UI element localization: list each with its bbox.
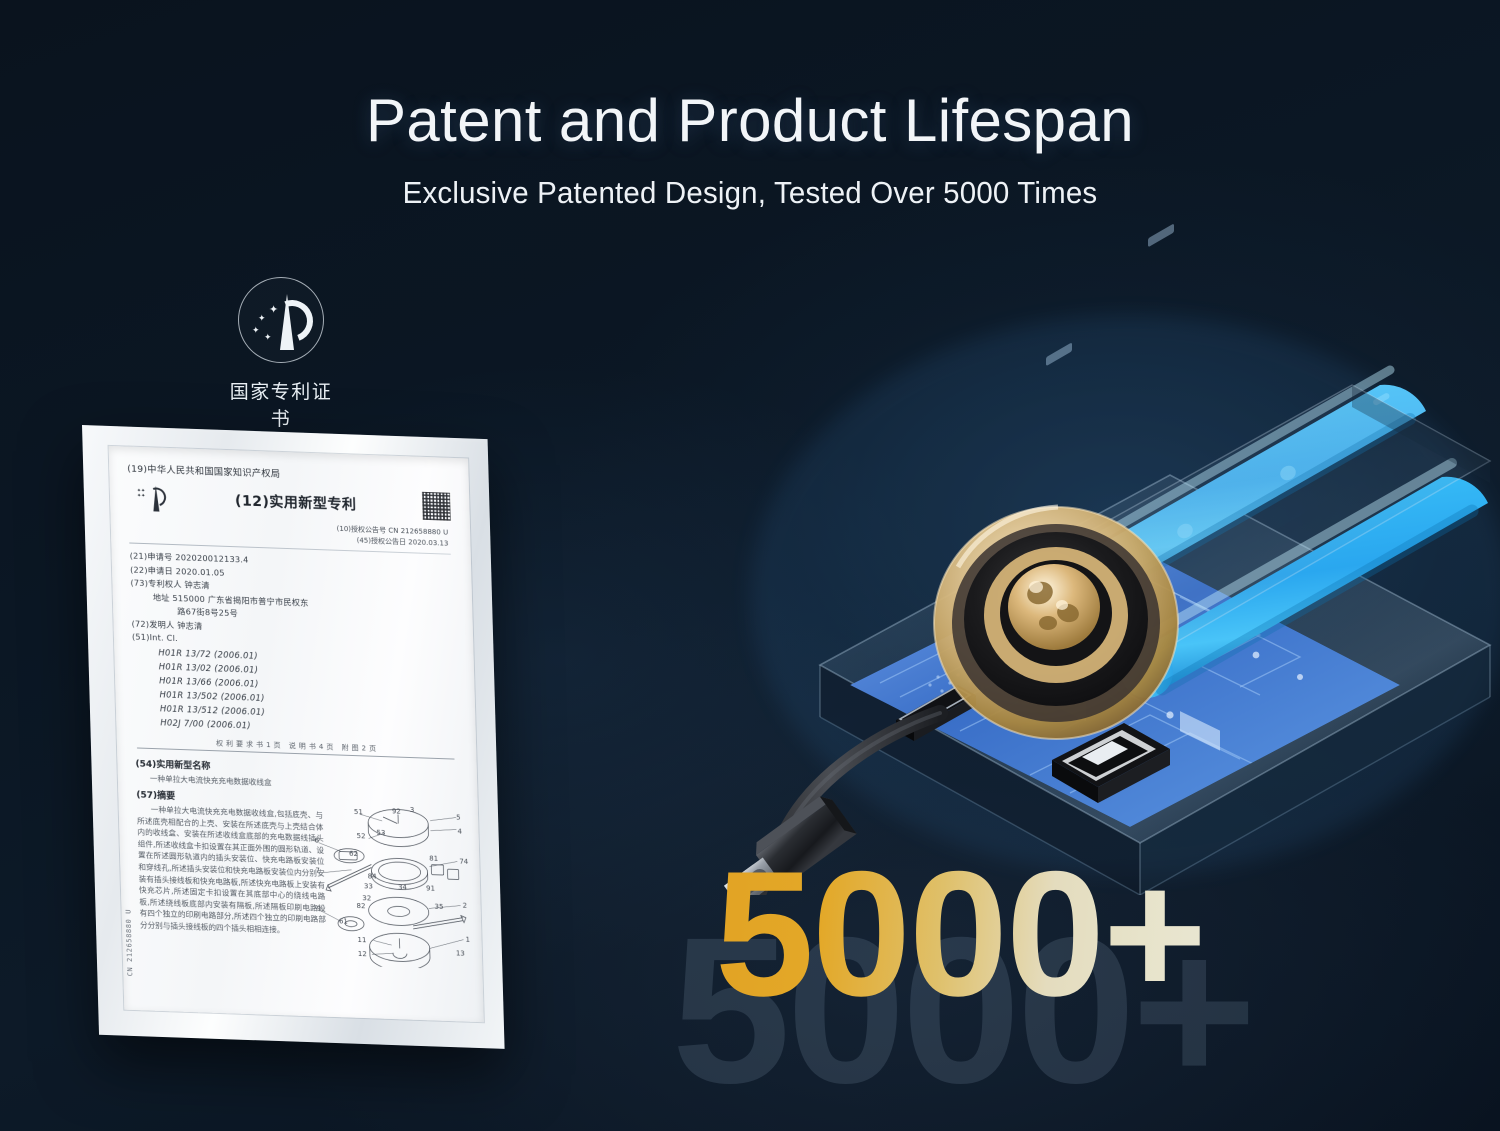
svg-text:35: 35 xyxy=(434,903,443,911)
cert-section-name-value: 一种单拉大电流快充充电数据收线盒 xyxy=(136,772,323,790)
svg-text:7: 7 xyxy=(315,867,320,875)
svg-text:13: 13 xyxy=(456,949,465,957)
svg-text:33: 33 xyxy=(364,882,373,890)
cert-abstract-text: 一种单拉大电流快充充电数据收线盒,包括底壳、与所述底壳相配合的上壳、安装在所述底… xyxy=(137,803,327,937)
svg-text:82: 82 xyxy=(356,902,365,910)
svg-text:34: 34 xyxy=(398,883,408,891)
svg-text:5: 5 xyxy=(456,814,461,822)
svg-text:9: 9 xyxy=(316,905,321,913)
svg-text:51: 51 xyxy=(354,808,363,816)
svg-text:61: 61 xyxy=(339,917,348,925)
qr-code-icon xyxy=(421,491,452,522)
patent-certificate-badge: ✦ ✦ ✦ ✦ 国家专利证书 xyxy=(221,277,341,431)
page-title: Patent and Product Lifespan xyxy=(0,86,1500,155)
svg-text:62: 62 xyxy=(349,850,358,858)
svg-text:52: 52 xyxy=(356,832,365,840)
transparent-power-bank xyxy=(700,215,1500,895)
svg-text:74: 74 xyxy=(459,858,469,866)
svg-text:4: 4 xyxy=(457,828,462,836)
page-background: Patent and Product Lifespan Exclusive Pa… xyxy=(0,0,1500,1131)
svg-text:92: 92 xyxy=(392,807,401,815)
certificate-page: (19)中华人民共和国国家知识产权局 ✦✦✦✦ (12)实用新型专利 (10)授… xyxy=(109,446,484,1022)
svg-text:32: 32 xyxy=(362,894,371,902)
svg-text:81: 81 xyxy=(429,855,438,863)
cable-reel-mechanism xyxy=(934,507,1178,739)
page-subtitle: Exclusive Patented Design, Tested Over 5… xyxy=(38,175,1463,211)
badge-label: 国家专利证书 xyxy=(221,377,341,431)
header: Patent and Product Lifespan Exclusive Pa… xyxy=(0,0,1500,211)
svg-text:11: 11 xyxy=(357,936,366,944)
cert-emblem-icon: ✦✦✦✦ xyxy=(136,483,171,514)
cert-doc-type: (12)实用新型专利 xyxy=(170,488,422,517)
emblem-stars-icon: ✦ ✦ ✦ ✦ xyxy=(252,305,286,341)
cnipa-emblem-icon: ✦ ✦ ✦ ✦ xyxy=(238,277,324,363)
svg-text:3: 3 xyxy=(410,806,415,814)
exploded-assembly-diagram: 54 742 16 79 5152 923 6261 8284 3332 819… xyxy=(309,792,472,969)
svg-text:84: 84 xyxy=(368,872,378,880)
svg-text:53: 53 xyxy=(376,829,385,837)
cert-vertical-code: CN 212658880 U xyxy=(125,908,135,976)
counter-value: 5000+ xyxy=(715,845,1205,1023)
svg-text:1: 1 xyxy=(465,936,470,944)
svg-text:91: 91 xyxy=(426,884,435,892)
svg-text:2: 2 xyxy=(462,902,467,910)
svg-text:12: 12 xyxy=(358,950,367,958)
svg-text:6: 6 xyxy=(315,837,320,845)
lifespan-counter: 5000+ 5000+ xyxy=(660,845,1300,1105)
patent-certificate: (19)中华人民共和国国家知识产权局 ✦✦✦✦ (12)实用新型专利 (10)授… xyxy=(82,425,505,1049)
